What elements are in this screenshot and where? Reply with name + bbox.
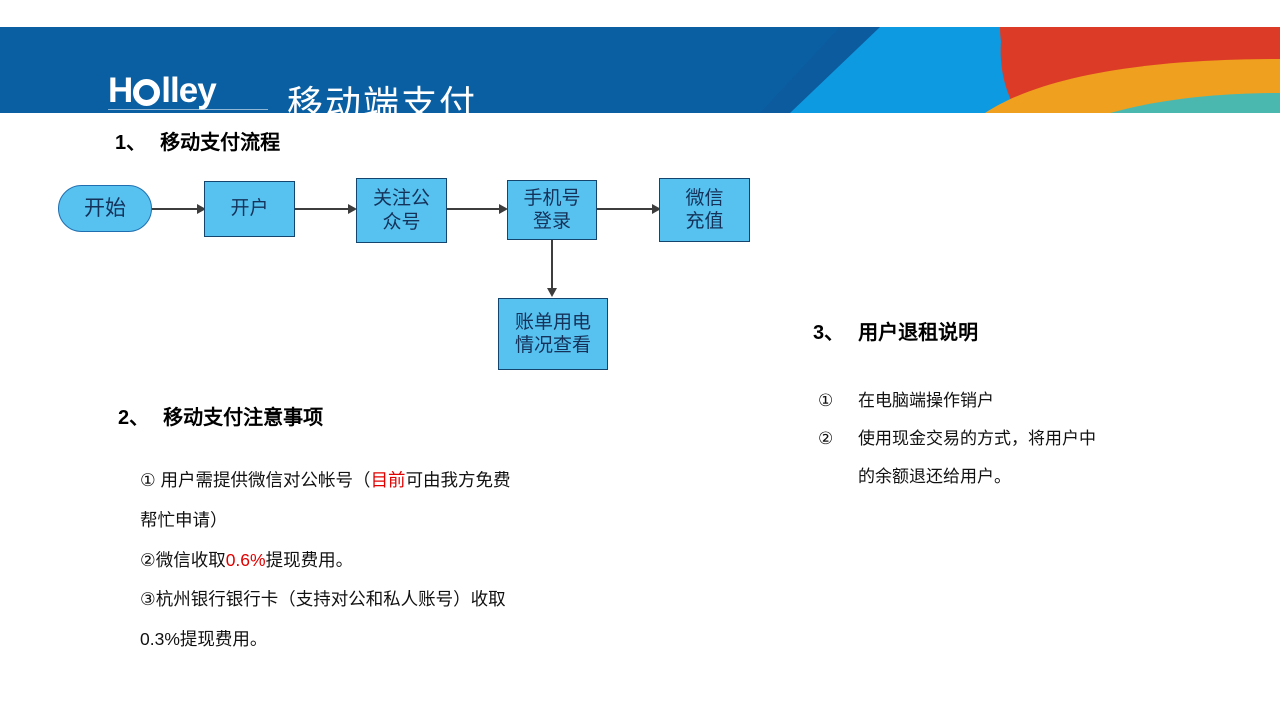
flow-connector-3 bbox=[447, 208, 503, 210]
note-item-1-text-b: 可由我方免费 bbox=[406, 470, 511, 490]
note-item-2-highlight: 0.6% bbox=[226, 550, 266, 570]
section-2-title: 移动支付注意事项 bbox=[163, 407, 323, 429]
flow-node-wechat-topup[interactable]: 微信 充值 bbox=[659, 178, 750, 242]
flow-node-start[interactable]: 开始 bbox=[58, 185, 152, 232]
note-item-2-text-a: ②微信收取 bbox=[140, 550, 226, 570]
note-item-1-highlight: 目前 bbox=[371, 470, 406, 490]
note-item-1-line-1: ① 用户需提供微信对公帐号（目前可由我方免费 bbox=[140, 460, 511, 501]
refund-item-2-marker: ② bbox=[818, 420, 858, 458]
note-item-3-line-1: ③杭州银行银行卡（支持对公和私人账号）收取 bbox=[140, 579, 506, 620]
refund-item-1-text: 在电脑端操作销户 bbox=[858, 382, 994, 420]
flow-node-bill-usage[interactable]: 账单用电 情况查看 bbox=[498, 298, 608, 370]
flow-node-follow-official-account[interactable]: 关注公 众号 bbox=[356, 178, 447, 243]
logo-letter-h: H bbox=[108, 73, 132, 109]
flow-connector-4 bbox=[597, 208, 655, 210]
section-3-heading: 3、用户退租说明 bbox=[813, 316, 978, 345]
refund-item-2-text: 使用现金交易的方式，将用户中 的余额退还给用户。 bbox=[858, 420, 1096, 496]
note-item-1-text-a: ① 用户需提供微信对公帐号（ bbox=[140, 470, 371, 490]
flow-connector-1 bbox=[152, 208, 200, 210]
flow-arrowhead-5 bbox=[547, 288, 557, 297]
list-item: ② 使用现金交易的方式，将用户中 的余额退还给用户。 bbox=[818, 420, 1238, 496]
section-3-number: 3、 bbox=[813, 322, 844, 344]
flow-node-open-account[interactable]: 开户 bbox=[204, 181, 295, 237]
note-item-2: ②微信收取0.6%提现费用。 bbox=[140, 540, 353, 581]
logo-letters-tail: lley bbox=[161, 73, 215, 109]
page-title: 移动端支付 bbox=[287, 75, 477, 113]
logo-subtitle: TECH 华立科技 bbox=[108, 112, 268, 113]
note-item-1-line-2: 帮忙申请） bbox=[140, 500, 228, 541]
list-item: ① 在电脑端操作销户 bbox=[818, 382, 1238, 420]
refund-item-1-marker: ① bbox=[818, 382, 858, 420]
flow-connector-2 bbox=[295, 208, 351, 210]
logo-wordmark: H lley bbox=[108, 73, 268, 109]
payment-flow-diagram: 开始 开户 关注公 众号 手机号 登录 微信 充值 账单用电 情况查看 bbox=[0, 0, 820, 400]
refund-list: ① 在电脑端操作销户 ② 使用现金交易的方式，将用户中 的余额退还给用户。 bbox=[818, 382, 1238, 496]
logo-divider bbox=[108, 109, 268, 110]
holley-logo: H lley TECH 华立科技 bbox=[108, 73, 268, 113]
logo-ring-icon bbox=[133, 79, 160, 106]
note-item-2-text-b: 提现费用。 bbox=[266, 550, 354, 570]
section-2-number: 2、 bbox=[118, 407, 149, 429]
section-3-title: 用户退租说明 bbox=[858, 322, 978, 344]
flow-connector-5 bbox=[551, 240, 553, 292]
flow-node-phone-login[interactable]: 手机号 登录 bbox=[507, 180, 597, 240]
note-item-3-line-2: 0.3%提现费用。 bbox=[140, 619, 267, 660]
section-2-heading: 2、移动支付注意事项 bbox=[118, 401, 323, 430]
